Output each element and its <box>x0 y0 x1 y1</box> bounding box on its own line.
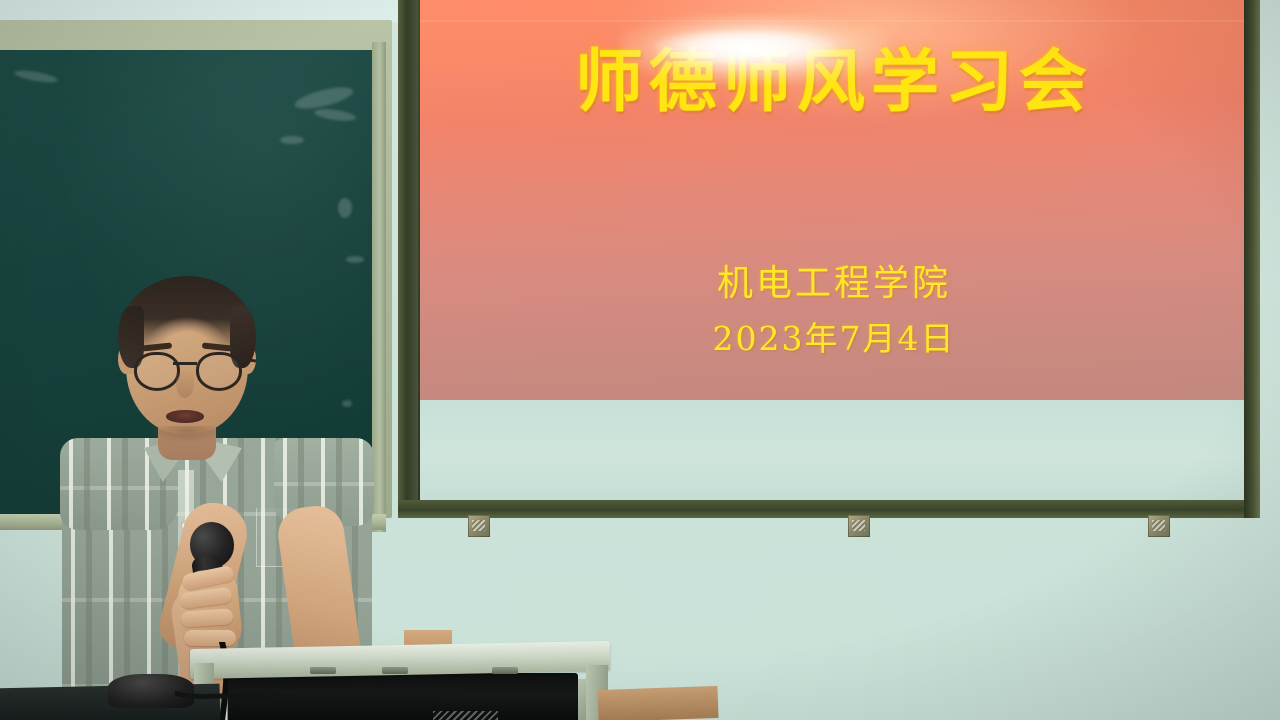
chalk-smudge <box>280 136 304 144</box>
projection-screen-surface: 师德师风学习会 机电工程学院 2023年7月4日 <box>420 0 1248 504</box>
slide-seam <box>420 20 1248 22</box>
lectern-hinge <box>492 667 518 674</box>
speaker-mouth <box>166 410 204 423</box>
lectern-monitor-vent <box>433 711 498 720</box>
projected-slide: 师德师风学习会 机电工程学院 2023年7月4日 <box>420 0 1248 400</box>
projection-screen-frame-right <box>1244 0 1260 518</box>
slide-title: 师德师风学习会 <box>420 26 1248 125</box>
wooden-furniture-edge <box>597 686 718 720</box>
chalk-smudge <box>338 198 352 218</box>
wall-upper-strip <box>0 0 400 22</box>
speaker-nose <box>176 368 194 398</box>
screen-mount-clip <box>848 515 870 537</box>
slide-organization: 机电工程学院 <box>420 254 1248 306</box>
speaker-finger <box>184 630 236 646</box>
speaker-chin-shadow <box>152 426 222 442</box>
lectern-hinge <box>310 667 336 674</box>
photo-scene: 师德师风学习会 机电工程学院 2023年7月4日 <box>0 0 1280 720</box>
lectern <box>190 645 610 720</box>
screen-mount-clip <box>468 515 490 537</box>
chalk-smudge <box>14 68 59 85</box>
chalk-smudge <box>346 256 364 263</box>
desk-cord <box>175 688 295 702</box>
slide-date: 2023年7月4日 <box>420 312 1248 360</box>
screen-mount-clip <box>1148 515 1170 537</box>
projection-screen-frame-left <box>398 0 418 518</box>
whiteboard-lower-band <box>420 400 1248 504</box>
chalk-smudge <box>314 107 357 123</box>
glasses-bridge <box>173 362 197 365</box>
projection-screen-frame-bottom <box>398 500 1260 518</box>
glasses-lens-left <box>134 352 180 391</box>
lectern-hinge <box>382 667 408 674</box>
